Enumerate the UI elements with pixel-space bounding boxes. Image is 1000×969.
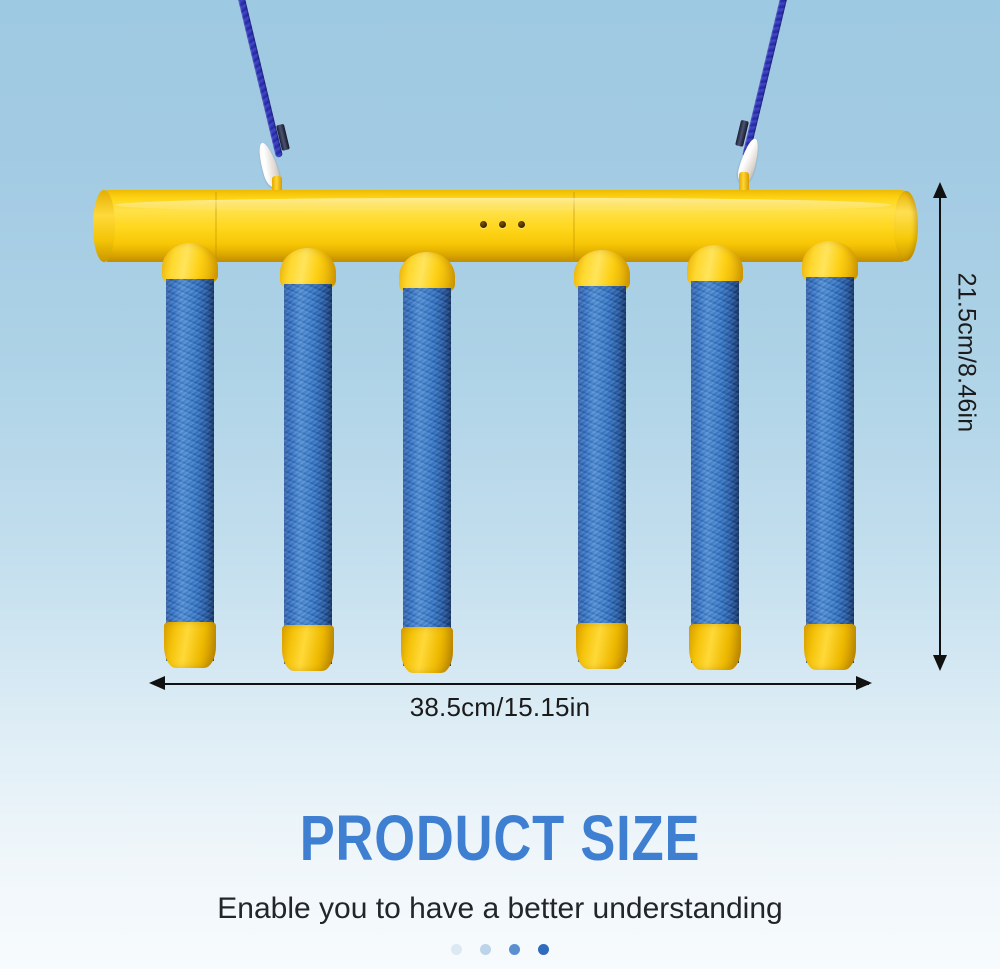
carousel-dot-active[interactable]	[538, 944, 549, 955]
vent-hole-icon	[499, 221, 506, 228]
page-subtitle: Enable you to have a better understandin…	[0, 892, 1000, 926]
hanging-rope-right	[742, 0, 790, 158]
width-dimension-line	[157, 683, 869, 685]
pole-shaft	[284, 284, 332, 664]
dimension-arrow-down-icon	[933, 655, 947, 671]
pole-shaft	[403, 288, 451, 666]
pole-shaft	[166, 279, 214, 661]
width-dimension-label: 38.5cm/15.15in	[0, 692, 1000, 723]
caption-block: PRODUCT SIZE Enable you to have a better…	[0, 806, 1000, 926]
pole-shaft	[578, 286, 626, 662]
carousel-dot[interactable]	[451, 944, 462, 955]
pole-bottom-cap	[164, 622, 216, 668]
height-dimension-line	[939, 190, 941, 668]
vent-hole-icon	[518, 221, 525, 228]
crossbar-vent-holes	[480, 221, 525, 228]
page-title: PRODUCT SIZE	[90, 806, 910, 870]
product-size-infographic: 21.5cm/8.46in 38.5cm/15.15in PRODUCT SIZ…	[0, 0, 1000, 969]
pole-shaft	[691, 281, 739, 663]
dimension-arrow-right-icon	[856, 676, 872, 690]
vent-hole-icon	[480, 221, 487, 228]
pole-bottom-cap	[576, 623, 628, 669]
height-dimension-label: 21.5cm/8.46in	[951, 273, 980, 433]
pole-bottom-cap	[282, 625, 334, 671]
crossbar-highlight	[115, 198, 891, 212]
crossbar-end-cap-left	[93, 190, 115, 262]
pole-shaft	[806, 277, 854, 663]
carousel-dots[interactable]	[0, 944, 1000, 955]
carousel-dot[interactable]	[480, 944, 491, 955]
hanging-rope-left	[235, 0, 283, 158]
pole-bottom-cap	[689, 624, 741, 670]
crossbar-end-cap-right	[894, 191, 918, 261]
pole-bottom-cap	[804, 624, 856, 670]
pole-bottom-cap	[401, 627, 453, 673]
rope-anchor-right	[739, 172, 749, 190]
carousel-dot[interactable]	[509, 944, 520, 955]
yellow-crossbar	[95, 190, 915, 262]
